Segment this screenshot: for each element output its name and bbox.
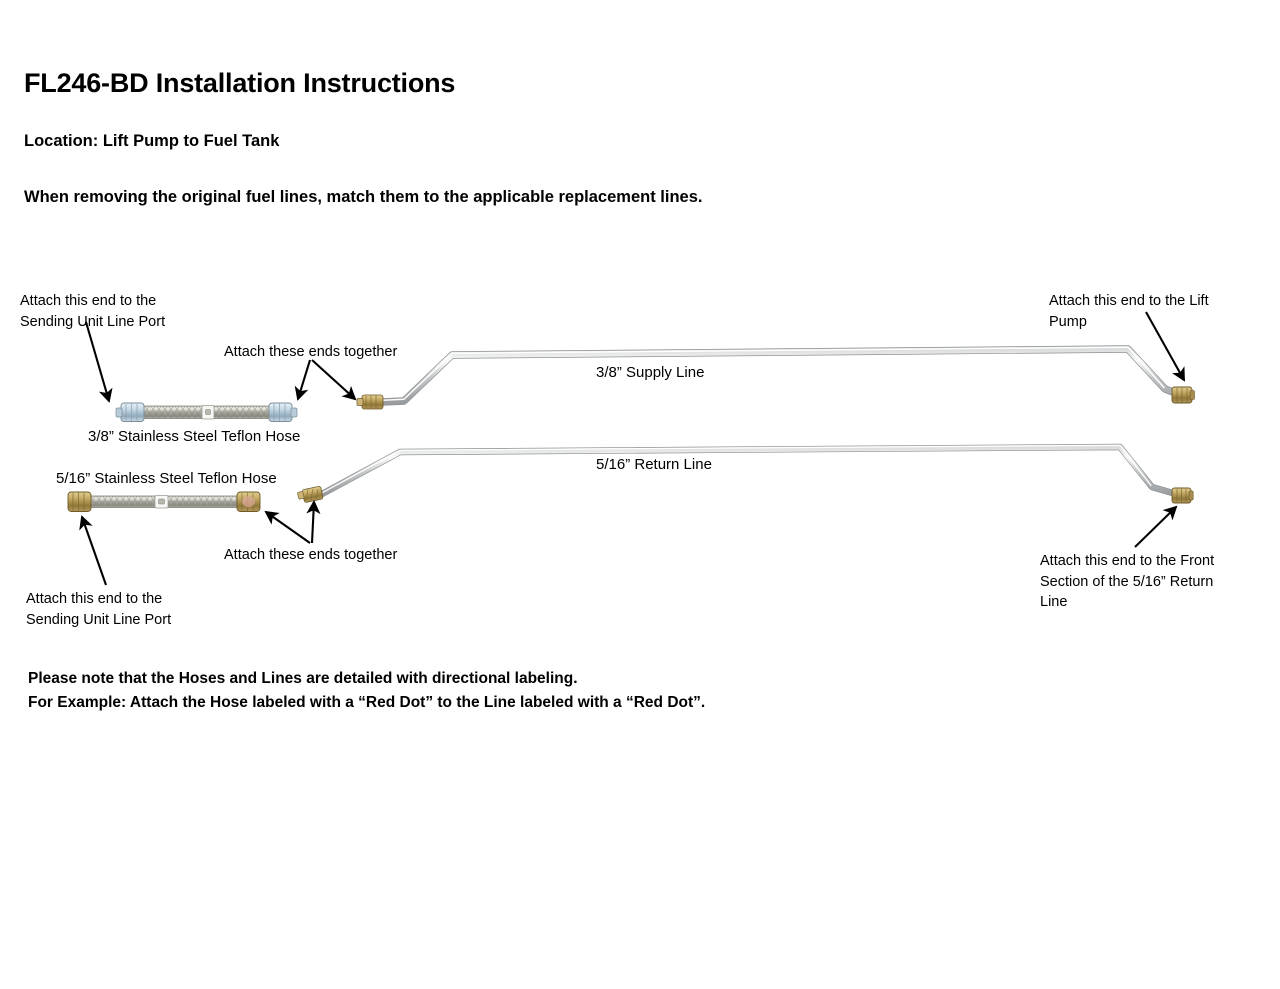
- supply-line-tube: [382, 347, 1178, 402]
- supply-line-lift-pump-fitting: [1172, 387, 1195, 403]
- callout-lift-pump: Attach this end to the Lift Pump: [1049, 291, 1209, 332]
- document-page: FL246-BD Installation Instructions Locat…: [0, 0, 1280, 989]
- label-supply-line: 3/8” Supply Line: [596, 364, 704, 381]
- hose-516-assembly: [68, 492, 260, 512]
- hose-516-left-fitting: [68, 492, 91, 512]
- label-return-line: 5/16” Return Line: [596, 456, 712, 473]
- arrow-sending-unit-bottom: [82, 517, 106, 585]
- arrow-front-section: [1135, 507, 1176, 547]
- callout-sending-unit-top: Attach this end to the Sending Unit Line…: [20, 291, 165, 332]
- label-hose-516: 5/16” Stainless Steel Teflon Hose: [56, 470, 277, 487]
- callout-front-section-return-line: Attach this end to the Front Section of …: [1040, 551, 1214, 613]
- bottom-note: Please note that the Hoses and Lines are…: [28, 667, 705, 714]
- callout-attach-ends-together-bottom: Attach these ends together: [224, 545, 397, 566]
- arrow-ends-top-to-hose: [298, 360, 310, 399]
- return-line-left-fitting: [297, 486, 323, 503]
- arrow-sending-unit-top: [86, 322, 109, 401]
- hose-38-right-fitting: [269, 403, 297, 422]
- hose-516-right-fitting: [237, 492, 260, 512]
- page-title: FL246-BD Installation Instructions: [24, 66, 455, 101]
- arrow-ends-bottom-to-hose: [266, 512, 310, 543]
- arrow-ends-bottom-to-line: [312, 502, 314, 543]
- arrow-ends-top-to-line: [312, 360, 355, 399]
- callout-sending-unit-bottom: Attach this end to the Sending Unit Line…: [26, 589, 171, 630]
- hose-38-assembly: [116, 403, 297, 422]
- callout-attach-ends-together-top: Attach these ends together: [224, 342, 397, 363]
- label-hose-38: 3/8” Stainless Steel Teflon Hose: [88, 428, 300, 445]
- match-instruction-line: When removing the original fuel lines, m…: [24, 187, 702, 208]
- return-line-tube: [322, 445, 1176, 494]
- location-line: Location: Lift Pump to Fuel Tank: [24, 131, 279, 152]
- hose-38-left-fitting: [116, 403, 144, 422]
- supply-line-left-fitting: [357, 395, 383, 409]
- return-line-right-fitting: [1172, 488, 1193, 503]
